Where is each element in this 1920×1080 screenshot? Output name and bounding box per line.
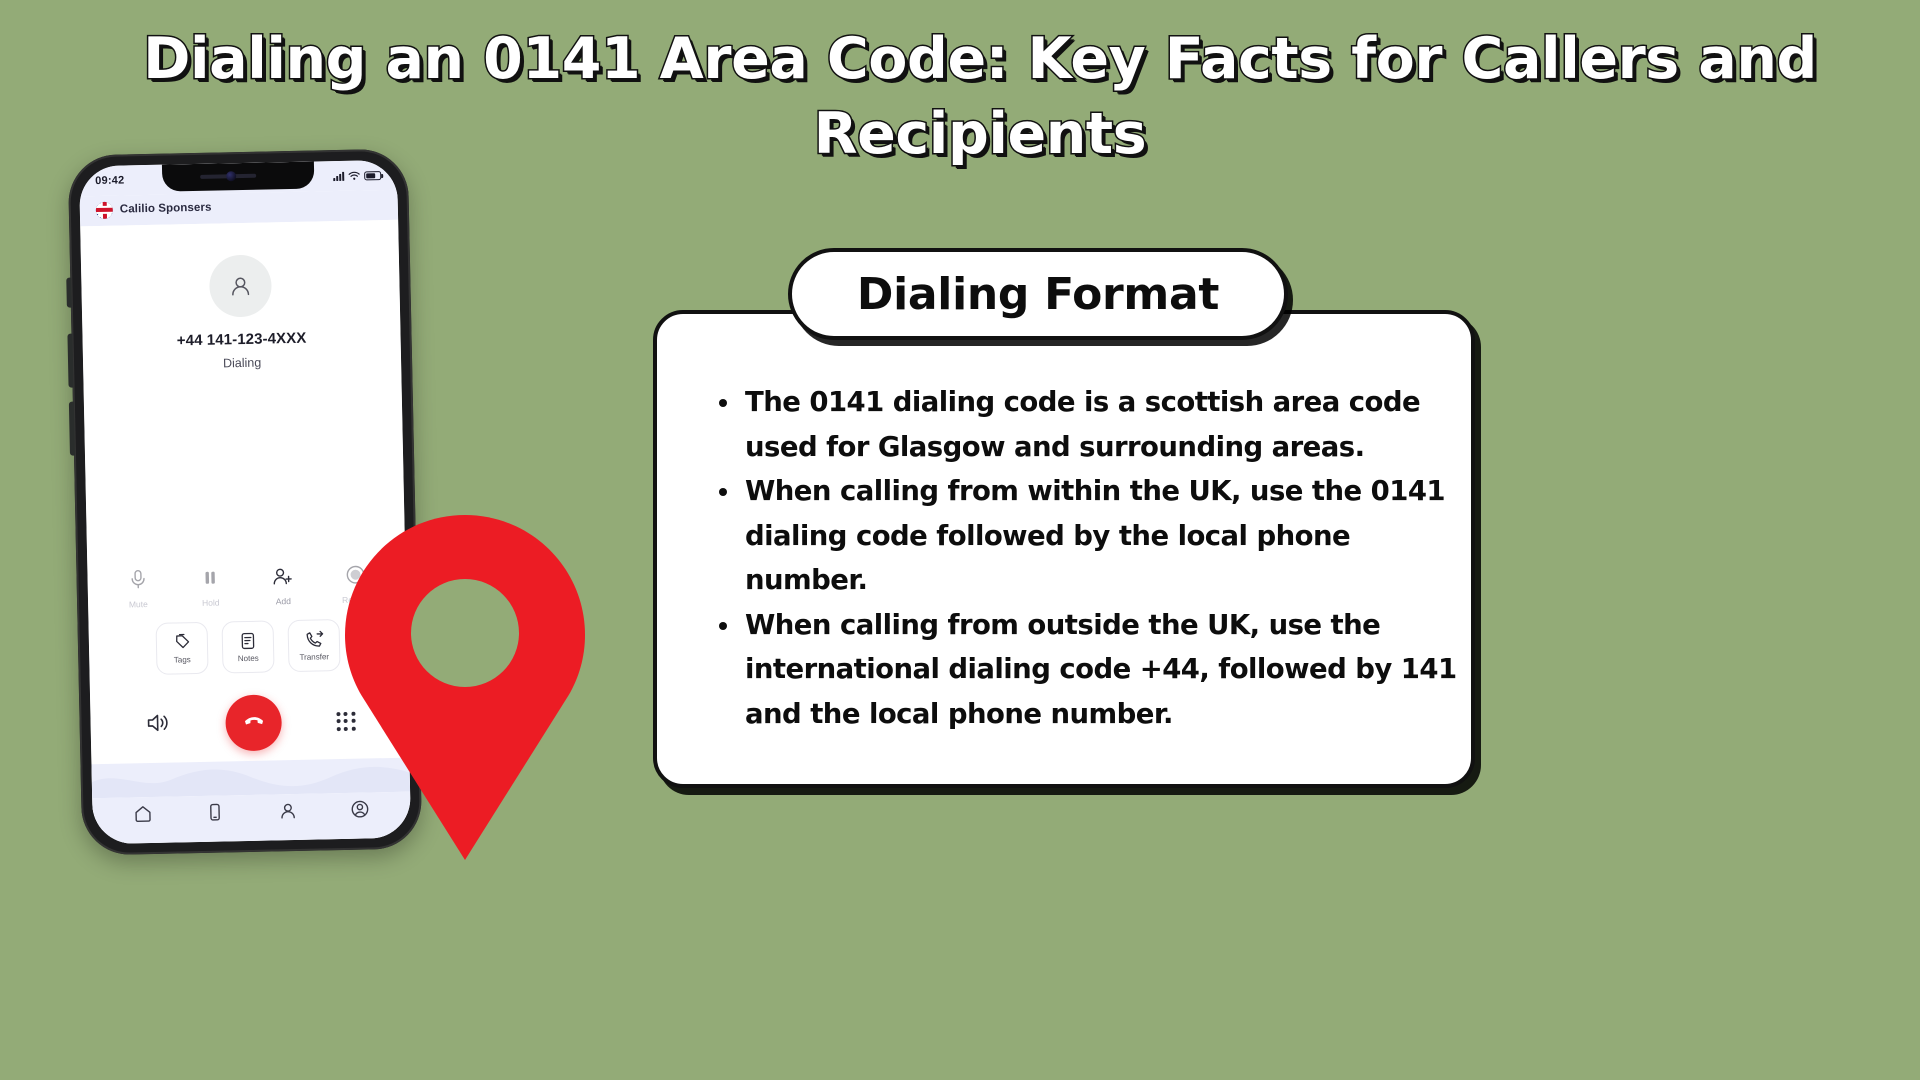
hold-button[interactable]: Hold: [184, 567, 237, 608]
tags-label: Tags: [174, 655, 191, 664]
facts-card-header: Dialing Format: [788, 248, 1288, 340]
wifi-icon: [348, 171, 360, 181]
pause-icon: [202, 568, 219, 588]
map-pin-icon: [345, 515, 585, 860]
list-item: The 0141 dialing code is a scottish area…: [711, 380, 1471, 469]
hold-label: Hold: [185, 597, 237, 608]
tag-icon: [172, 632, 192, 652]
notes-button[interactable]: Notes: [221, 620, 274, 673]
contacts-icon: [278, 801, 297, 820]
notes-label: Notes: [238, 654, 259, 663]
facts-list: The 0141 dialing code is a scottish area…: [711, 380, 1471, 736]
speaker-icon: [144, 710, 170, 735]
tags-button[interactable]: Tags: [156, 622, 209, 675]
uk-flag-icon: [96, 201, 113, 218]
nav-item-device[interactable]: [206, 802, 225, 826]
list-item: When calling from outside the UK, use th…: [711, 603, 1471, 737]
phone-notch: [162, 161, 315, 191]
phone-volume-down-button[interactable]: [69, 402, 75, 456]
status-bar-time: 09:42: [95, 174, 124, 187]
caller-number: +44 141-123-4XXX: [82, 328, 400, 352]
end-call-button[interactable]: [225, 694, 282, 751]
nav-item-home[interactable]: [133, 804, 152, 828]
status-bar-icons: [333, 170, 381, 181]
end-call-icon: [240, 710, 267, 737]
device-icon: [206, 802, 225, 821]
caller-block: +44 141-123-4XXX Dialing: [80, 220, 401, 374]
add-person-icon: [273, 566, 293, 586]
battery-icon: [364, 171, 381, 180]
nav-item-contacts[interactable]: [278, 801, 297, 825]
call-transfer-icon: [303, 629, 324, 649]
phone-volume-up-button[interactable]: [67, 334, 73, 388]
list-item: When calling from within the UK, use the…: [711, 469, 1471, 603]
front-camera-icon: [226, 171, 236, 181]
home-icon: [133, 804, 152, 823]
notes-icon: [238, 631, 258, 651]
microphone-icon: [129, 569, 146, 589]
signal-icon: [333, 171, 344, 180]
add-label: Add: [257, 596, 309, 607]
mute-button[interactable]: Mute: [112, 569, 165, 610]
app-name-label: Calilio Sponsers: [120, 202, 212, 216]
phone-mute-switch[interactable]: [66, 278, 72, 308]
transfer-label: Transfer: [299, 652, 329, 662]
mute-label: Mute: [112, 599, 164, 610]
transfer-button[interactable]: Transfer: [287, 619, 340, 672]
facts-card-header-label: Dialing Format: [857, 269, 1219, 320]
add-call-button[interactable]: Add: [257, 566, 310, 607]
user-avatar-icon: [209, 254, 272, 317]
speaker-button[interactable]: [144, 710, 171, 740]
